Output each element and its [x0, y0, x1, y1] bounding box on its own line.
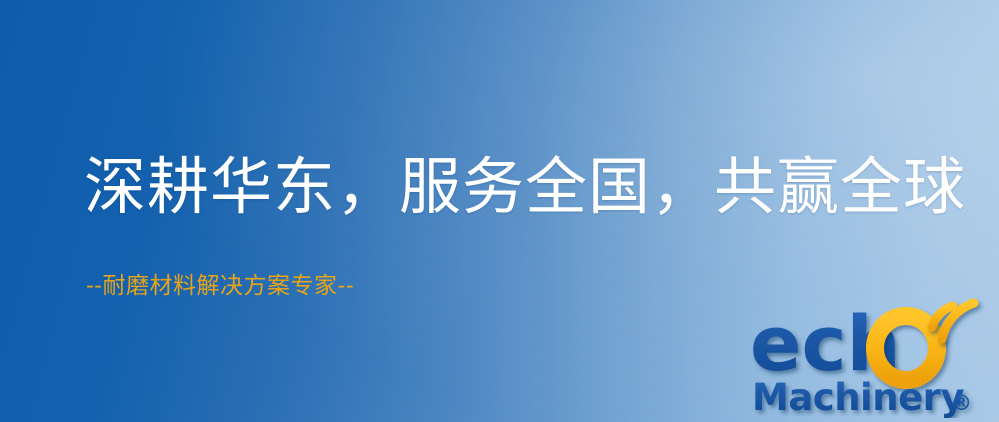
- banner-headline: 深耕华东，服务全国，共赢全球: [84, 152, 966, 221]
- logo-machinery-text: Machinery: [752, 376, 964, 418]
- banner-subtitle: --耐磨材料解决方案专家--: [86, 266, 354, 300]
- logo-tagline-group: Machinery ®: [752, 376, 972, 418]
- hero-banner: 深耕华东，服务全国，共赢全球 --耐磨材料解决方案专家--: [0, 0, 999, 422]
- echo-machinery-logo[interactable]: ech Machinery ®: [748, 296, 996, 418]
- logo-registered-mark: ®: [951, 391, 972, 415]
